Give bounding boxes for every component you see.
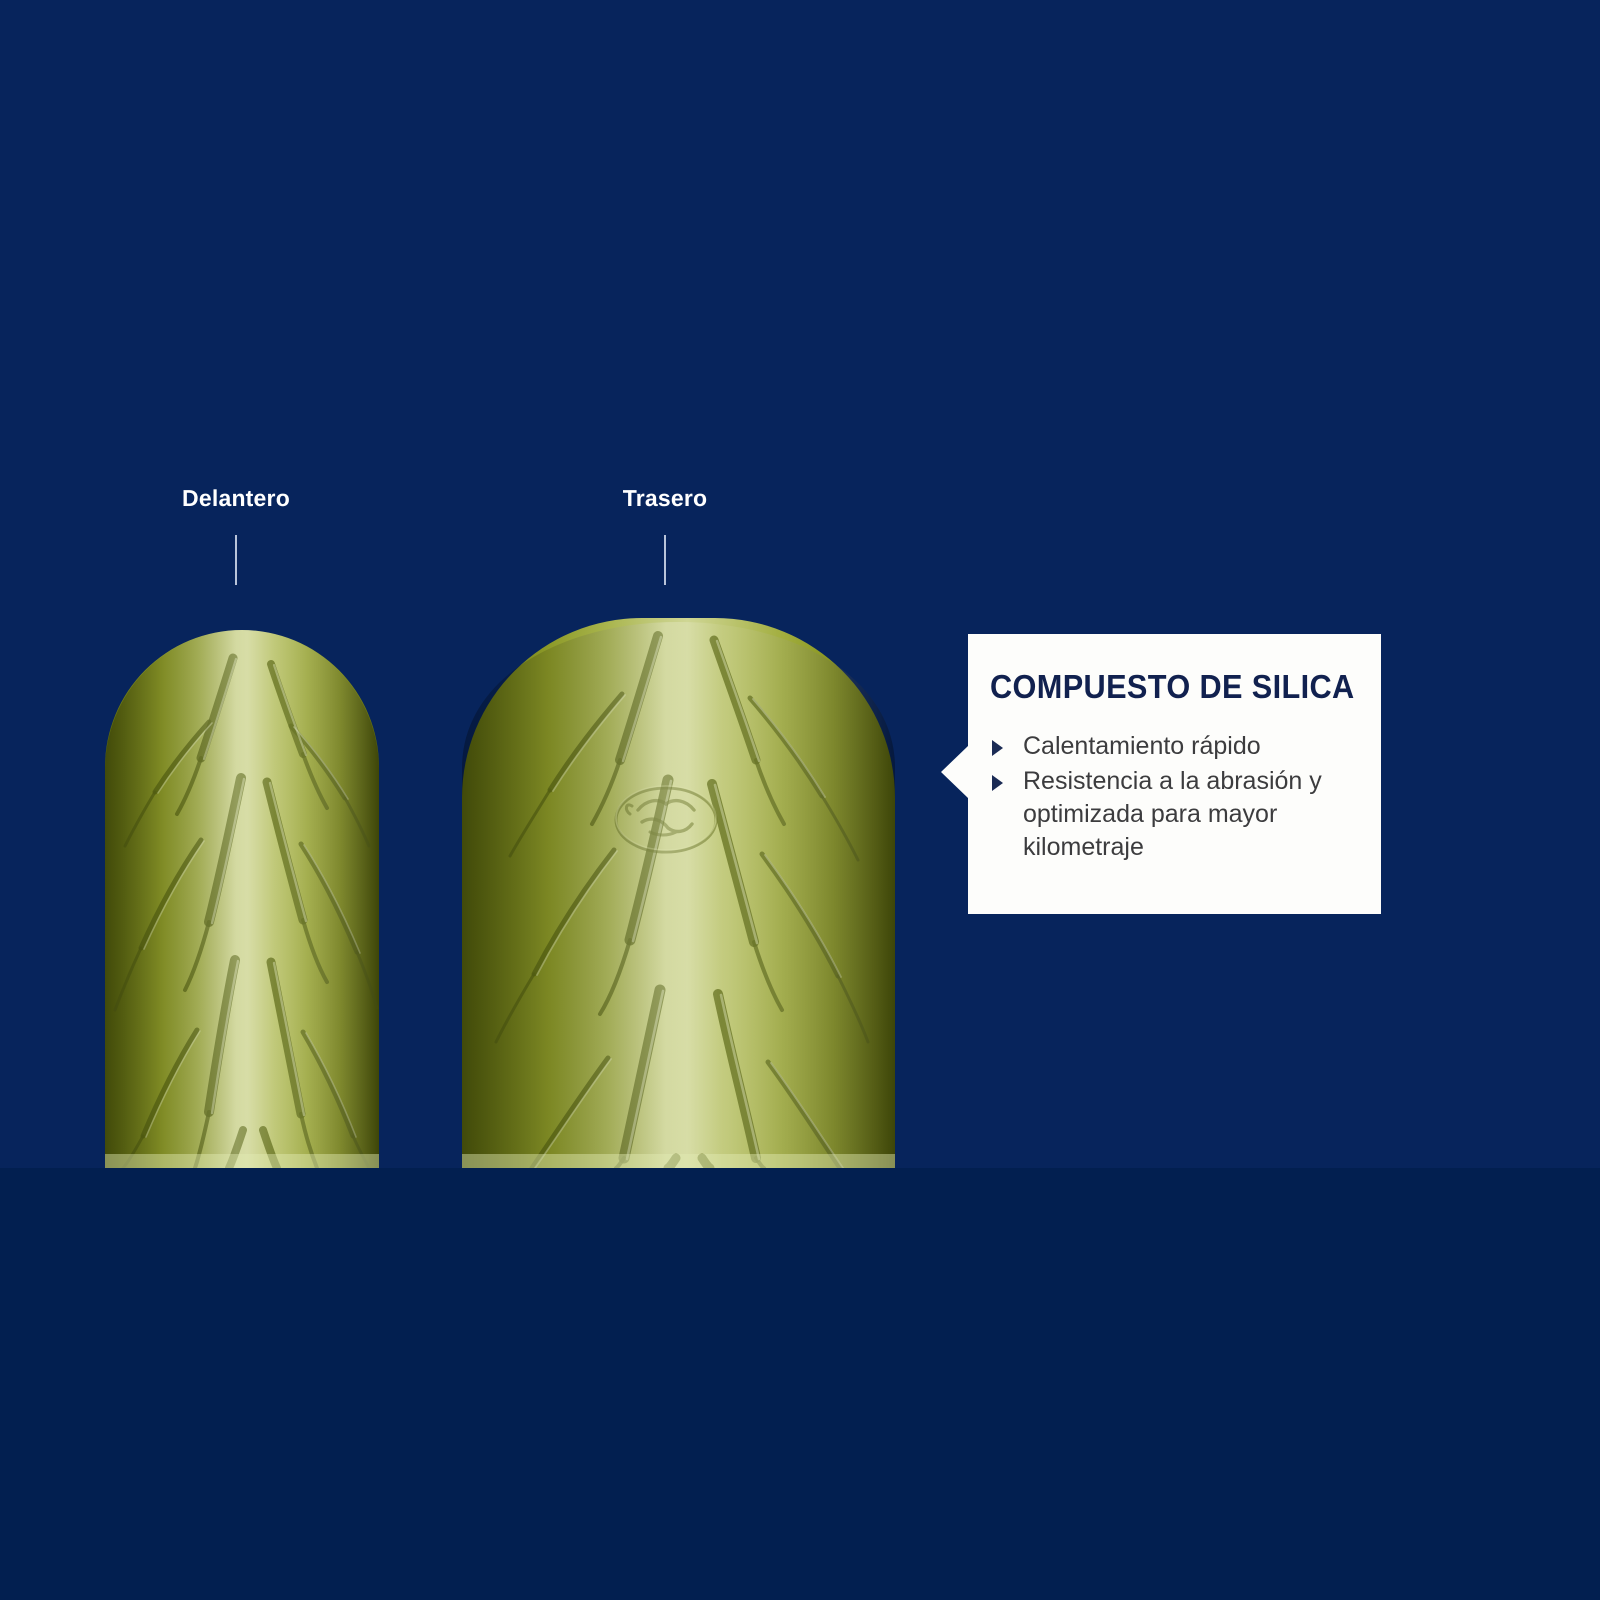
tyre-label-front: Delantero [182, 485, 290, 512]
bullet-arrow-icon [992, 740, 1003, 756]
tyre-label-rear: Trasero [623, 485, 708, 512]
front-tyre-tread-grooves [105, 630, 379, 1168]
rear-tyre-tread-grooves [462, 618, 895, 1168]
callout-list-item-text: Resistencia a la abrasión y optimizada p… [1023, 767, 1322, 861]
leader-line-rear [664, 535, 666, 585]
leader-line-front [235, 535, 237, 585]
product-diagram-canvas: Delantero Trasero COMPUESTO DE SILICA Ca… [0, 0, 1600, 1600]
callout-list-item: Resistencia a la abrasión y optimizada p… [990, 765, 1362, 864]
callout-list-item: Calentamiento rápido [990, 730, 1362, 763]
bullet-arrow-icon [992, 775, 1003, 791]
callout-feature-list: Calentamiento rápido Resistencia a la ab… [990, 730, 1362, 866]
callout-title: COMPUESTO DE SILICA [990, 669, 1355, 705]
callout-pointer-icon [941, 746, 968, 798]
silica-compound-callout: COMPUESTO DE SILICA Calentamiento rápido… [968, 634, 1381, 914]
callout-list-item-text: Calentamiento rápido [1023, 732, 1261, 760]
front-tyre-image [105, 630, 379, 1168]
rear-tyre-image [462, 618, 895, 1168]
